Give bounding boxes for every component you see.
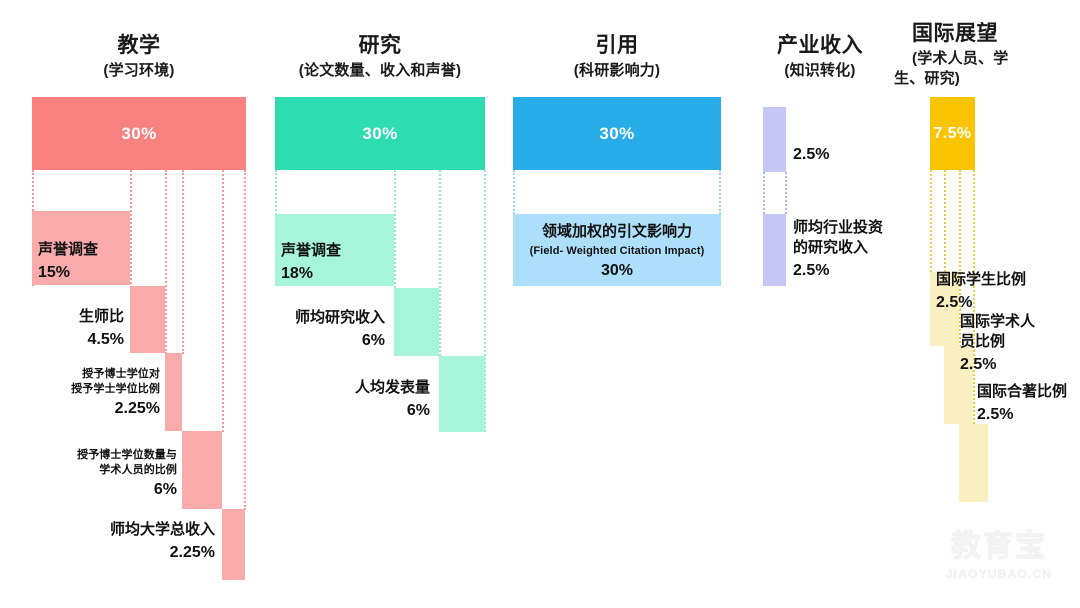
bar-value-teaching-total: 30% (32, 124, 246, 144)
column-title-citations: 引用 (513, 34, 721, 59)
caption-value: 30% (513, 260, 721, 281)
bar-teaching-item-4 (222, 509, 245, 580)
guide-line (785, 172, 787, 214)
column-header-international-outlook: 国际展望 (学术人员、学 生、研究) (912, 22, 1072, 88)
guide-line (930, 170, 932, 272)
caption-value: 2.5% (793, 260, 903, 281)
column-title-research: 研究 (275, 34, 485, 59)
guide-line (182, 170, 184, 354)
caption-label-line1: 授予博士学位对 (30, 367, 160, 382)
column-subtitle-industry-income: (知识转化) (740, 62, 900, 81)
column-header-teaching: 教学 (学习环境) (32, 34, 246, 81)
column-subtitle-research: (论文数量、收入和声誉) (275, 62, 485, 81)
bar-international-outlook-item-2 (959, 424, 988, 502)
bar-value-citations-total: 30% (513, 124, 721, 144)
caption-research-item-1: 师均研究收入 6% (255, 308, 385, 351)
watermark: 教育宝 JIAOYUBAO.CN (934, 532, 1064, 596)
bar-research-item-2 (439, 356, 485, 432)
caption-teaching-item-4: 师均大学总收入 2.25% (60, 520, 215, 563)
caption-teaching-item-0: 声誉调查 15% (38, 240, 148, 283)
caption-value: 2.25% (60, 542, 215, 563)
caption-value: 2.5% (936, 292, 1076, 313)
caption-label-line2: 授予学士学位比例 (30, 382, 160, 397)
guide-line (763, 172, 765, 214)
bar-teaching-item-1 (130, 286, 165, 353)
guide-line (222, 170, 224, 432)
caption-value: 15% (38, 262, 148, 283)
caption-research-item-2: 人均发表量 6% (300, 378, 430, 421)
infographic-canvas: 教学 (学习环境) 30% 声誉调查 15% 生师比 4.5% 授予博士学位对 … (0, 0, 1080, 608)
caption-label: 声誉调查 (281, 241, 401, 261)
caption-label: 国际合著比例 (977, 382, 1080, 402)
bar-citations-total: 30% (513, 97, 721, 170)
caption-value: 6% (300, 400, 430, 421)
bar-teaching-total: 30% (32, 97, 246, 170)
caption-label-line2: 员比例 (960, 332, 1080, 352)
bar-international-outlook-total: 7.5% (930, 97, 975, 170)
caption-teaching-item-3: 授予博士学位数量与 学术人员的比例 6% (35, 448, 177, 500)
caption-research-item-0: 声誉调查 18% (281, 241, 401, 284)
caption-value: 6% (35, 479, 177, 500)
caption-industry-income-total: 2.5% (793, 144, 903, 165)
caption-label: 生师比 (10, 307, 124, 327)
watermark-logo-text: 教育宝 (934, 532, 1064, 562)
column-header-industry-income: 产业收入 (知识转化) (740, 34, 900, 81)
caption-label-en: (Field- Weighted Citation Impact) (513, 244, 721, 259)
caption-label-line1: 师均行业投资 (793, 218, 903, 238)
caption-label: 声誉调查 (38, 240, 148, 260)
caption-value: 2.5% (977, 404, 1080, 425)
bar-value-research-total: 30% (275, 124, 485, 144)
column-subtitle-international-outlook-line2: 生、研究) (894, 70, 1072, 89)
guide-line (944, 170, 946, 272)
caption-label: 领域加权的引文影响力 (513, 222, 721, 242)
column-subtitle-international-outlook-line1: (学术人员、学 (912, 50, 1072, 69)
caption-value: 2.5% (793, 144, 903, 165)
caption-international-outlook-item-1: 国际学术人 员比例 2.5% (960, 312, 1080, 375)
caption-label-line1: 授予博士学位数量与 (35, 448, 177, 463)
caption-label: 师均研究收入 (255, 308, 385, 328)
column-header-citations: 引用 (科研影响力) (513, 34, 721, 81)
watermark-domain-text: JIAOYUBAO.CN (934, 567, 1064, 581)
caption-value: 18% (281, 263, 401, 284)
column-subtitle-teaching: (学习环境) (32, 62, 246, 81)
bar-industry-income-item-0 (763, 214, 786, 286)
column-title-industry-income: 产业收入 (740, 34, 900, 59)
column-title-international-outlook: 国际展望 (912, 22, 1072, 47)
guide-line (719, 170, 721, 214)
guide-line (439, 170, 441, 356)
caption-industry-income-item-0: 师均行业投资 的研究收入 2.5% (793, 218, 903, 281)
caption-teaching-item-1: 生师比 4.5% (10, 307, 124, 350)
guide-line (244, 170, 246, 510)
column-header-research: 研究 (论文数量、收入和声誉) (275, 34, 485, 81)
caption-international-outlook-item-2: 国际合著比例 2.5% (977, 382, 1080, 425)
column-subtitle-citations: (科研影响力) (513, 62, 721, 81)
caption-label-line2: 学术人员的比例 (35, 463, 177, 478)
caption-value: 2.5% (960, 354, 1080, 375)
caption-value: 6% (255, 330, 385, 351)
bar-value-international-outlook-total: 7.5% (930, 125, 975, 143)
bar-teaching-item-3 (182, 431, 222, 509)
guide-line (513, 170, 515, 214)
column-title-teaching: 教学 (32, 34, 246, 59)
caption-label: 国际学生比例 (936, 270, 1076, 290)
caption-label-line2: 的研究收入 (793, 238, 903, 258)
caption-value: 2.25% (30, 398, 160, 419)
caption-label: 人均发表量 (300, 378, 430, 398)
guide-line (165, 170, 167, 354)
caption-label-line1: 国际学术人 (960, 312, 1080, 332)
caption-international-outlook-item-0: 国际学生比例 2.5% (936, 270, 1076, 313)
caption-value: 4.5% (10, 329, 124, 350)
bar-research-item-1 (394, 288, 439, 356)
bar-industry-income-total (763, 107, 786, 172)
caption-teaching-item-2: 授予博士学位对 授予学士学位比例 2.25% (30, 367, 160, 419)
bar-teaching-item-2 (165, 353, 182, 431)
caption-citations-item-0: 领域加权的引文影响力 (Field- Weighted Citation Imp… (513, 222, 721, 281)
bar-research-total: 30% (275, 97, 485, 170)
caption-label: 师均大学总收入 (60, 520, 215, 540)
